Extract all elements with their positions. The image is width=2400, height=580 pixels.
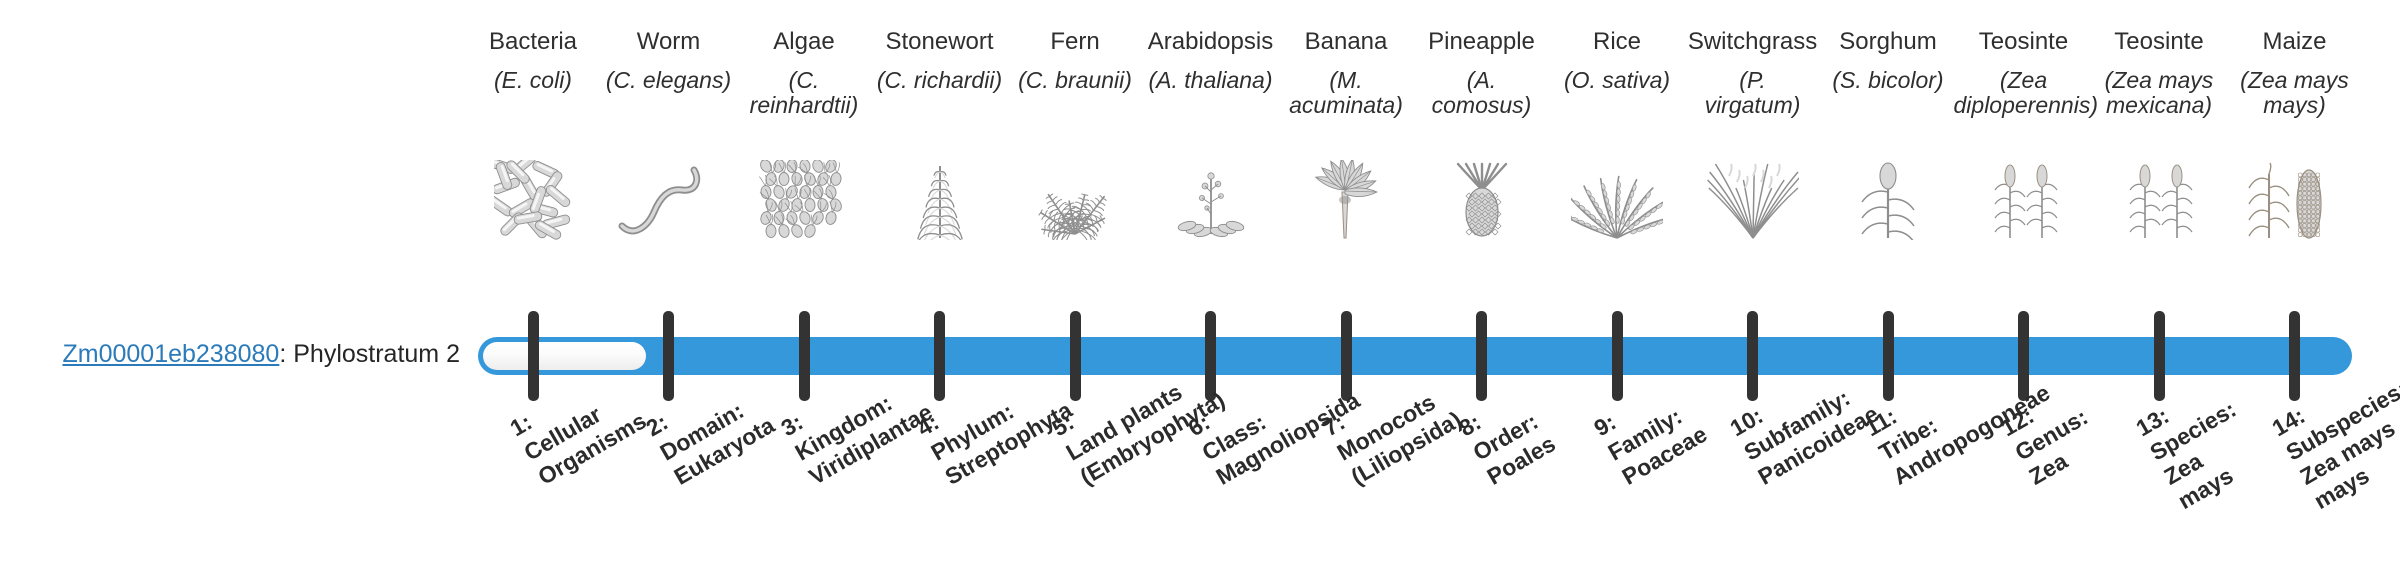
- species-column: Bacteria(E. coli): [463, 28, 603, 93]
- phylostratum-rank-label: 11: Tribe: Andropogoneae: [1860, 298, 2110, 491]
- species-scientific-name: (C. richardii): [870, 68, 1010, 94]
- phylostratum-rank-label: 2: Domain: Eukaryota: [641, 298, 891, 491]
- arabidopsis-plant-icon: [1141, 160, 1281, 240]
- nematode-worm-icon: [599, 160, 739, 240]
- species-scientific-name: (C.reinhardtii): [734, 68, 874, 120]
- species-common-name: Fern: [1005, 28, 1145, 56]
- phylostratum-tick[interactable]: [799, 311, 810, 401]
- phylostratum-rank-label: 8: Order: Poales: [1454, 298, 1704, 491]
- species-column: Pineapple(A.comosus): [1412, 28, 1552, 119]
- species-column: Algae(C.reinhardtii): [734, 28, 874, 119]
- species-scientific-name: (S. bicolor): [1818, 68, 1958, 94]
- species-common-name: Sorghum: [1818, 28, 1958, 56]
- rice-plant-icon: [1547, 160, 1687, 240]
- species-column: Banana(M.acuminata): [1276, 28, 1416, 119]
- species-scientific-name: (O. sativa): [1547, 68, 1687, 94]
- species-common-name: Arabidopsis: [1141, 28, 1281, 56]
- species-scientific-name: (A. thaliana): [1141, 68, 1281, 94]
- phylostratum-rank-label: 1: Cellular Organisms: [505, 298, 755, 491]
- phylostratum-tick[interactable]: [663, 311, 674, 401]
- phylostratum-rank-label: 5: Land plants (Embryophyta): [1047, 298, 1297, 491]
- banana-tree-icon: [1276, 160, 1416, 240]
- phylostratum-rank-label: 12: Genus: Zea: [1996, 298, 2246, 491]
- species-scientific-name: (Zeadiploperennis): [1954, 68, 2094, 120]
- maize-plant-ear-icon: [2225, 160, 2365, 240]
- gene-id-link[interactable]: Zm00001eb238080: [62, 340, 279, 368]
- switchgrass-icon: [1683, 160, 1823, 240]
- species-column: Teosinte(Zeadiploperennis): [1954, 28, 2094, 119]
- phylostratum-tick[interactable]: [1341, 311, 1352, 401]
- phylostratum-tick[interactable]: [1612, 311, 1623, 401]
- phylostratum-rank-label: 4: Phylum: Streptophyta: [912, 298, 1162, 491]
- phylostratum-rank-label: 6: Class: Magnoliopsida: [1183, 298, 1433, 491]
- species-column: Maize(Zea maysmays): [2225, 28, 2365, 119]
- phylostratum-rank-label: 9: Family: Poaceae: [1589, 298, 1839, 491]
- phylostratum-rank-label: 3: Kingdom: Viridiplantae: [776, 298, 1026, 491]
- phylostratum-tick[interactable]: [1070, 311, 1081, 401]
- sorghum-plant-icon: [1818, 160, 1958, 240]
- stonewort-alga-icon: [870, 160, 1010, 240]
- species-column: Fern(C. braunii): [1005, 28, 1145, 93]
- species-scientific-name: (P.virgatum): [1683, 68, 1823, 120]
- teosinte-mexicana-icon: [2089, 160, 2229, 240]
- species-scientific-name: (Zea maysmays): [2225, 68, 2365, 120]
- phylostratum-bar-track[interactable]: [478, 337, 2352, 375]
- species-column: Sorghum(S. bicolor): [1818, 28, 1958, 93]
- species-scientific-name: (C. elegans): [599, 68, 739, 94]
- phylostratum-tick[interactable]: [528, 311, 539, 401]
- species-common-name: Maize: [2225, 28, 2365, 56]
- species-column: Rice(O. sativa): [1547, 28, 1687, 93]
- species-scientific-name: (M.acuminata): [1276, 68, 1416, 120]
- species-scientific-name: (E. coli): [463, 68, 603, 94]
- species-common-name: Banana: [1276, 28, 1416, 56]
- bacteria-rods-icon: [463, 160, 603, 240]
- species-column: Teosinte(Zea maysmexicana): [2089, 28, 2229, 119]
- phylostratum-tick[interactable]: [1747, 311, 1758, 401]
- fern-frond-icon: [1005, 160, 1145, 240]
- phylostratum-rank-label: 14: Subspecies: Zea mays mays: [2267, 298, 2400, 515]
- species-common-name: Algae: [734, 28, 874, 56]
- species-common-name: Rice: [1547, 28, 1687, 56]
- teosinte-ears-icon: [1954, 160, 2094, 240]
- species-column: Switchgrass(P.virgatum): [1683, 28, 1823, 119]
- phylostratum-figure: Zm00001eb238080: Phylostratum 2 Bacteria…: [0, 0, 2400, 580]
- species-common-name: Pineapple: [1412, 28, 1552, 56]
- species-scientific-name: (Zea maysmexicana): [2089, 68, 2229, 120]
- species-column: Worm(C. elegans): [599, 28, 739, 93]
- species-common-name: Teosinte: [1954, 28, 2094, 56]
- phylostratum-rank-label: 7: Monocots (Liliopsida): [1318, 298, 1568, 491]
- species-column: Stonewort(C. richardii): [870, 28, 1010, 93]
- species-common-name: Switchgrass: [1683, 28, 1823, 56]
- phylostratum-tick[interactable]: [2018, 311, 2029, 401]
- phylostratum-tick[interactable]: [2289, 311, 2300, 401]
- species-common-name: Teosinte: [2089, 28, 2229, 56]
- phylostratum-tick[interactable]: [1205, 311, 1216, 401]
- phylostratum-rank-label: 10: Subfamily: Panicoideae: [1725, 298, 1975, 491]
- green-algae-icon: [734, 160, 874, 240]
- species-common-name: Worm: [599, 28, 739, 56]
- species-scientific-name: (C. braunii): [1005, 68, 1145, 94]
- species-common-name: Bacteria: [463, 28, 603, 56]
- gene-phylostratum-label: Zm00001eb238080: Phylostratum 2: [40, 341, 460, 369]
- phylostratum-tick[interactable]: [2154, 311, 2165, 401]
- pineapple-fruit-icon: [1412, 160, 1552, 240]
- species-scientific-name: (A.comosus): [1412, 68, 1552, 120]
- phylostratum-bar-unfilled: [483, 342, 646, 370]
- gene-label-separator: :: [279, 340, 293, 368]
- species-common-name: Stonewort: [870, 28, 1010, 56]
- phylostratum-value-text: Phylostratum 2: [293, 340, 460, 368]
- phylostratum-tick[interactable]: [1476, 311, 1487, 401]
- phylostratum-tick[interactable]: [934, 311, 945, 401]
- species-column: Arabidopsis(A. thaliana): [1141, 28, 1281, 93]
- phylostratum-tick[interactable]: [1883, 311, 1894, 401]
- phylostratum-rank-label: 13: Species: Zea mays: [2131, 298, 2395, 515]
